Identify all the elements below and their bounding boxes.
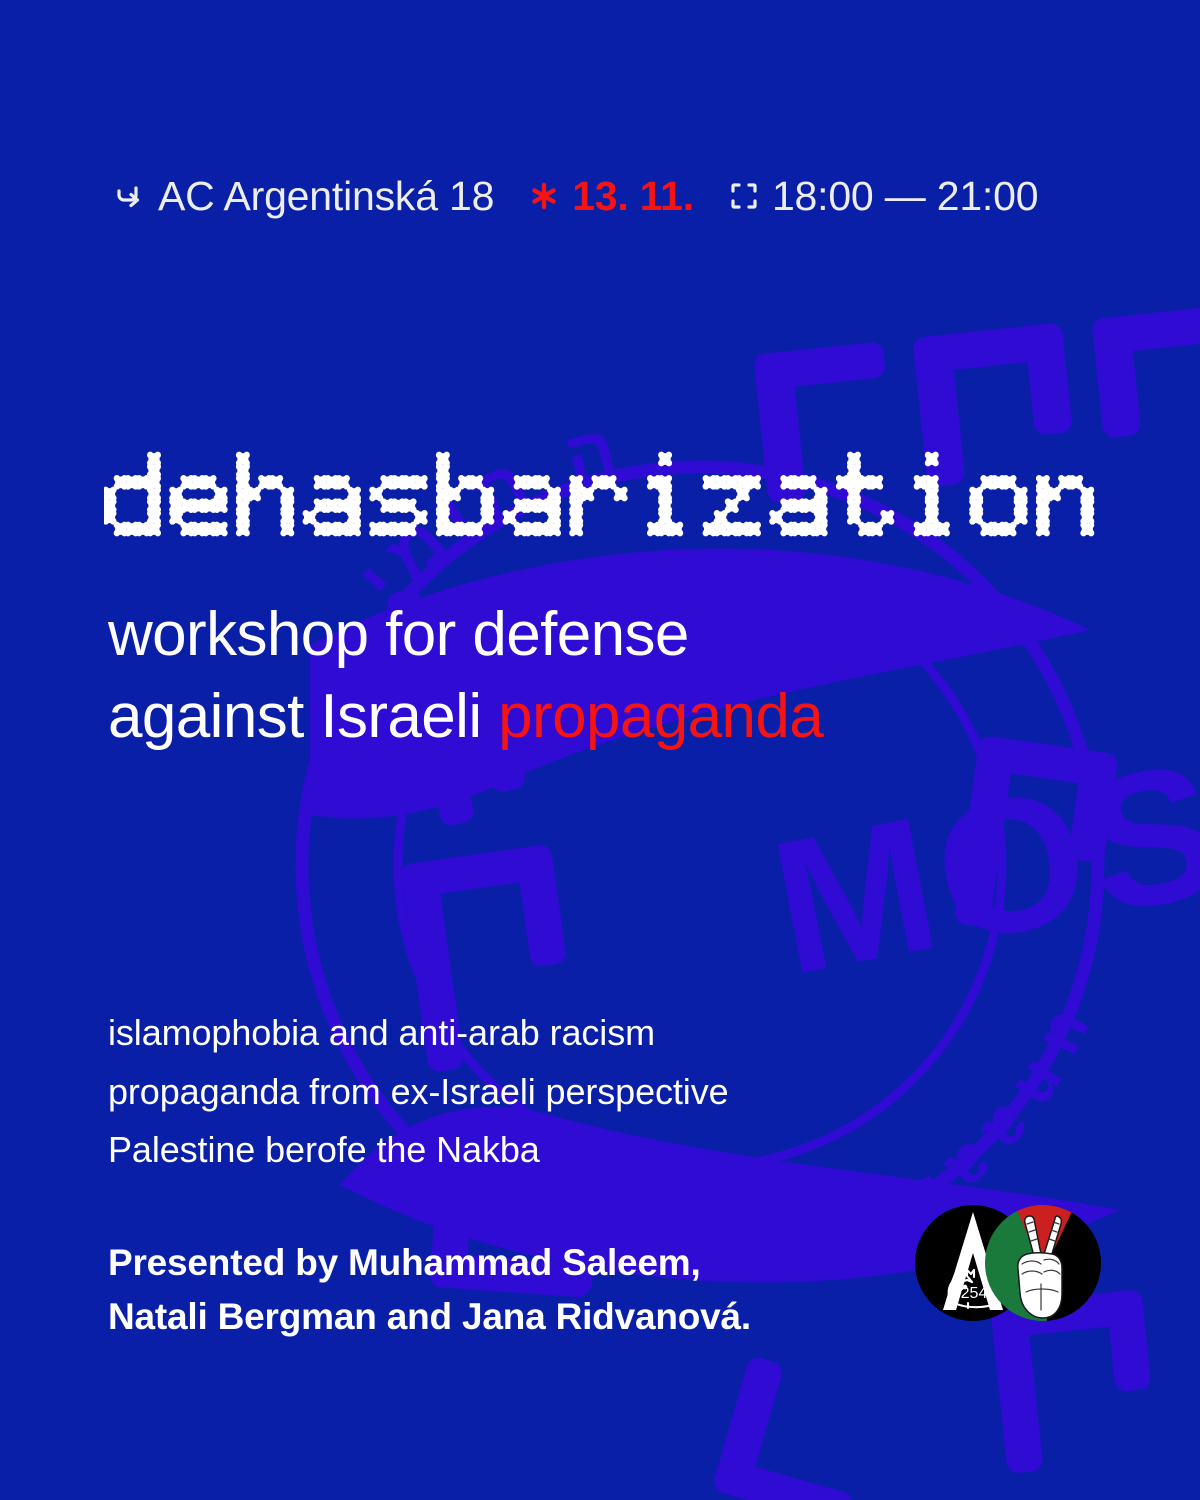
asterisk-icon [528, 179, 560, 213]
pixel-title-glyphs [104, 424, 1104, 564]
time-chunk: 18:00 — 21:00 [728, 176, 1038, 217]
subtitle-accent-word: propaganda [498, 682, 823, 751]
venue-chunk: AC Argentinská 18 [112, 176, 494, 217]
presenters-credit: Presented by Muhammad Saleem, Natali Ber… [108, 1236, 908, 1343]
credit-line-2: Natali Bergman and Jana Ridvanová. [108, 1290, 908, 1344]
subtitle-block: workshop for defense against Israeli pro… [108, 594, 1118, 759]
subtitle-line-1: workshop for defense [108, 594, 1118, 676]
topics-list: islamophobia and anti-arab racism propag… [108, 1004, 1108, 1180]
poster-canvas: MOSSA ה תומי unaansce [0, 0, 1200, 1500]
venue-label: AC Argentinská 18 [158, 176, 494, 217]
subtitle-line-2: against Israeli propaganda [108, 676, 1118, 758]
list-item: islamophobia and anti-arab racism [108, 1004, 1108, 1063]
time-label: 18:00 — 21:00 [772, 176, 1038, 217]
credit-line-1: Presented by Muhammad Saleem, [108, 1236, 908, 1290]
list-item: Palestine berofe the Nakba [108, 1121, 1108, 1180]
logo-lockup: 254 [910, 1198, 1106, 1328]
page-title [104, 424, 1104, 564]
crop-frame-icon [728, 180, 760, 212]
subtitle-line-2-prefix: against Israeli [108, 682, 498, 751]
palestine-peace-hand-badge [985, 1205, 1105, 1321]
date-chunk: 13. 11. [528, 176, 694, 217]
list-item: propaganda from ex-Israeli perspective [108, 1063, 1108, 1122]
date-label: 13. 11. [572, 176, 694, 217]
cat-number-label: 254 [961, 1285, 988, 1302]
event-meta-row: AC Argentinská 18 13. 11. [112, 168, 1038, 224]
arrow-turn-right-icon [112, 179, 146, 213]
